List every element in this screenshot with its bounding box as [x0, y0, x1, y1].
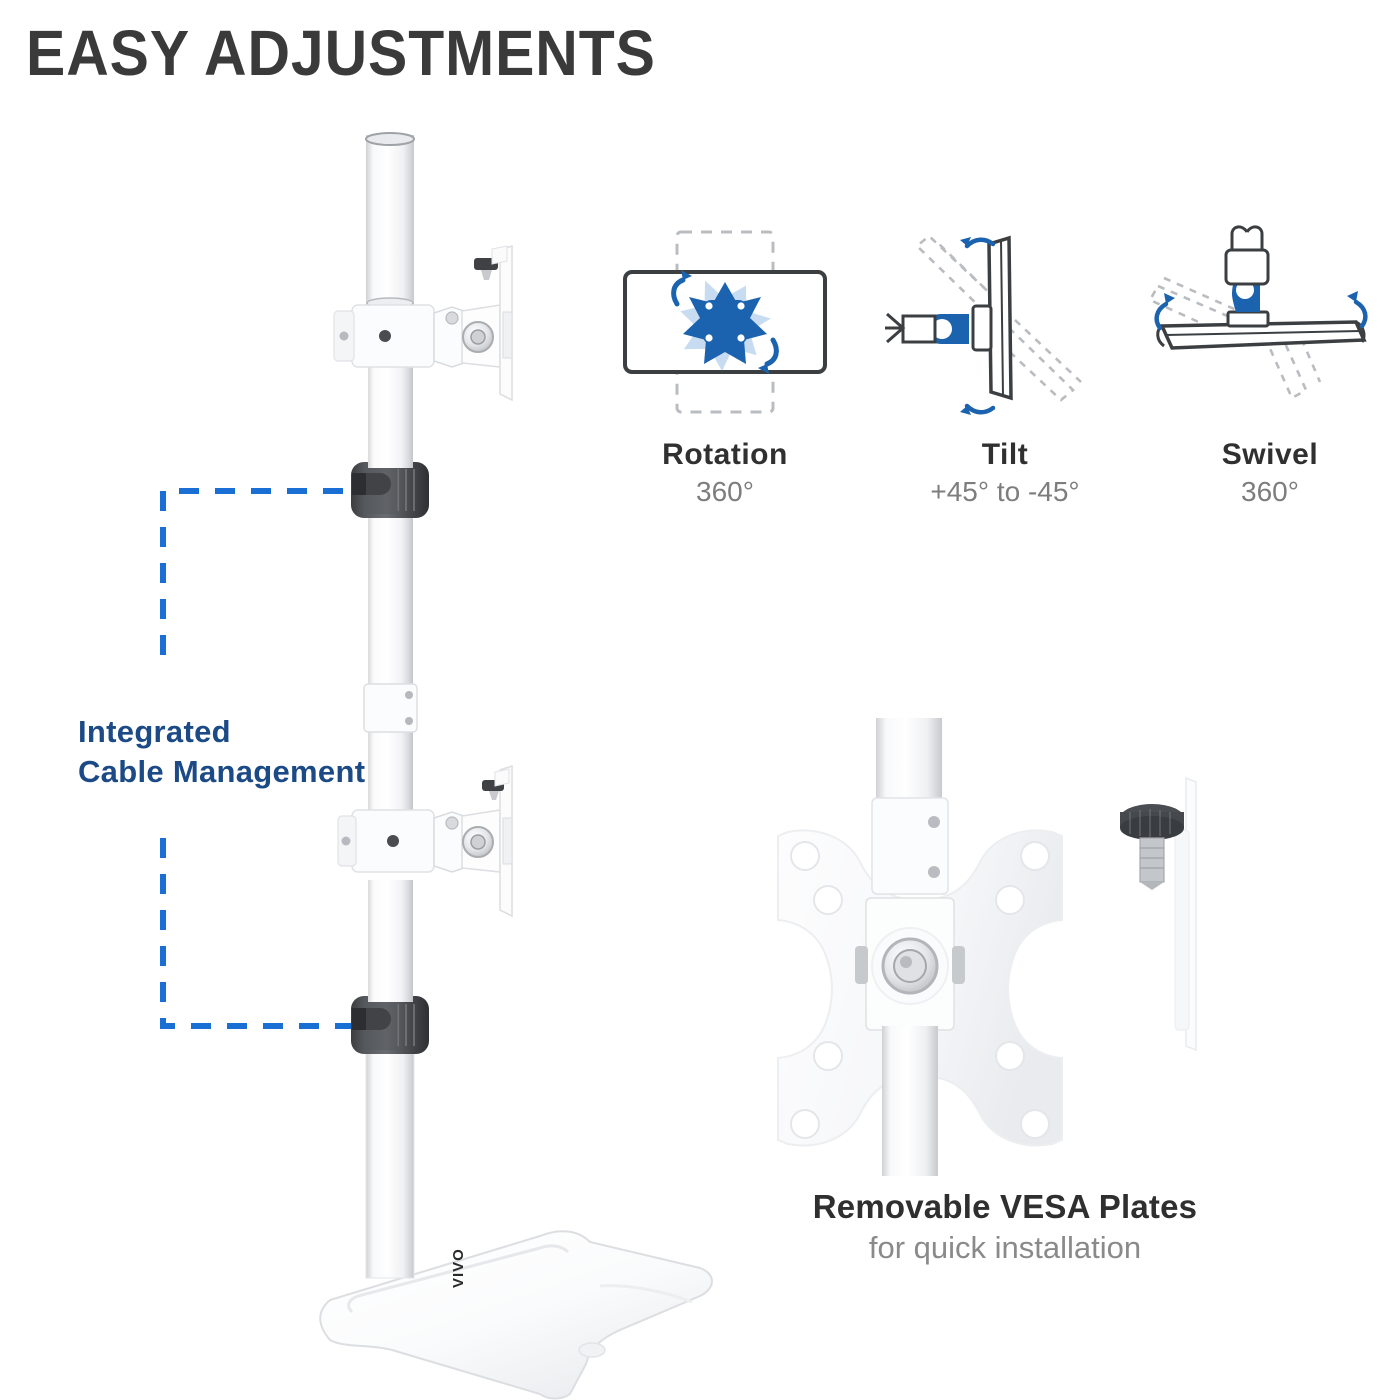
- monitor-rotation-icon: [605, 222, 845, 432]
- vesa-caption: Removable VESA Plates for quick installa…: [760, 1188, 1250, 1266]
- feature-label-swivel: Swivel: [1150, 438, 1390, 472]
- feature-rotation: Rotation 360°: [605, 222, 845, 508]
- cable-management-callout: Integrated Cable Management: [78, 712, 408, 793]
- cable-clip-lower: [351, 996, 429, 1054]
- cable-callout-line1: Integrated: [78, 714, 231, 749]
- feature-value-rotation: 360°: [605, 476, 845, 508]
- monitor-swivel-icon: [1150, 222, 1390, 432]
- brand-mark: VIVO: [450, 1248, 467, 1288]
- feature-label-rotation: Rotation: [605, 438, 845, 472]
- vesa-subtitle: for quick installation: [760, 1230, 1250, 1266]
- feature-label-tilt: Tilt: [885, 438, 1125, 472]
- vesa-plate-side-thumbscrew: [1120, 778, 1196, 1050]
- cable-clip-upper: [351, 462, 429, 518]
- monitor-tilt-icon: [885, 222, 1125, 432]
- feature-value-tilt: +45° to -45°: [885, 476, 1125, 508]
- vesa-title: Removable VESA Plates: [760, 1188, 1250, 1226]
- feature-swivel: Swivel 360°: [1150, 222, 1390, 508]
- feature-tilt: Tilt +45° to -45°: [885, 222, 1125, 508]
- monitor-mount-upper: [334, 246, 512, 400]
- cable-callout-line2: Cable Management: [78, 752, 408, 792]
- vesa-plate-photo: [778, 718, 1062, 1176]
- feature-value-swivel: 360°: [1150, 476, 1390, 508]
